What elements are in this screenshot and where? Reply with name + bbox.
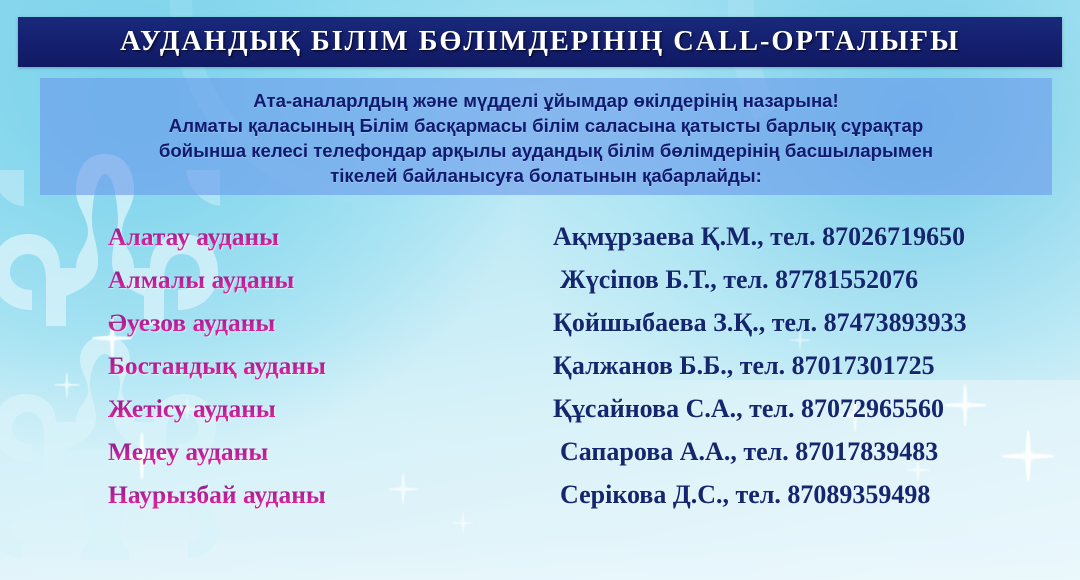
district-name: Алатау ауданы (108, 222, 279, 252)
district-name: Наурызбай ауданы (108, 480, 326, 510)
poster-canvas: АУДАНДЫҚ БІЛІМ БӨЛІМДЕРІНІҢ CALL-ОРТАЛЫҒ… (0, 0, 1080, 580)
header-banner: АУДАНДЫҚ БІЛІМ БӨЛІМДЕРІНІҢ CALL-ОРТАЛЫҒ… (18, 17, 1062, 67)
intro-line-4: тікелей байланысуға болатынын қабарлайды… (330, 163, 762, 188)
district-name: Әуезов ауданы (108, 308, 275, 338)
intro-line-3: бойынша келесі телефондар арқылы ауданды… (159, 138, 933, 163)
intro-panel: Ата-аналарлдың және мүдделі ұйымдар өкіл… (40, 78, 1052, 195)
contact-row: Алатау ауданы Ақмұрзаева Қ.М., тел. 8702… (0, 215, 1080, 258)
contact-person-phone: Сапарова А.А., тел. 87017839483 (560, 437, 938, 467)
district-name: Бостандық ауданы (108, 351, 326, 381)
intro-line-1: Ата-аналарлдың және мүдделі ұйымдар өкіл… (253, 88, 838, 113)
district-name: Жетісу ауданы (108, 394, 276, 424)
contact-row: Әуезов ауданы Қойшыбаева З.Қ., тел. 8747… (0, 301, 1080, 344)
contact-person-phone: Қойшыбаева З.Қ., тел. 87473893933 (553, 308, 967, 338)
district-name: Медеу ауданы (108, 437, 268, 467)
contact-person-phone: Қалжанов Б.Б., тел. 87017301725 (553, 351, 935, 381)
page-title: АУДАНДЫҚ БІЛІМ БӨЛІМДЕРІНІҢ CALL-ОРТАЛЫҒ… (120, 26, 960, 58)
contact-row: Алмалы ауданы Жүсіпов Б.Т., тел. 8778155… (0, 258, 1080, 301)
contact-row: Медеу ауданы Сапарова А.А., тел. 8701783… (0, 430, 1080, 473)
contact-person-phone: Ақмұрзаева Қ.М., тел. 87026719650 (553, 222, 965, 252)
contact-person-phone: Серікова Д.С., тел. 87089359498 (560, 480, 930, 510)
contact-row: Жетісу ауданы Құсайнова С.А., тел. 87072… (0, 387, 1080, 430)
contact-row: Бостандық ауданы Қалжанов Б.Б., тел. 870… (0, 344, 1080, 387)
contact-person-phone: Құсайнова С.А., тел. 87072965560 (553, 394, 944, 424)
contact-row: Наурызбай ауданы Серікова Д.С., тел. 870… (0, 473, 1080, 516)
district-name: Алмалы ауданы (108, 265, 294, 295)
contact-person-phone: Жүсіпов Б.Т., тел. 87781552076 (560, 265, 918, 295)
contacts-list: Алатау ауданы Ақмұрзаева Қ.М., тел. 8702… (0, 215, 1080, 516)
intro-line-2: Алматы қаласының Білім басқармасы білім … (169, 113, 923, 138)
